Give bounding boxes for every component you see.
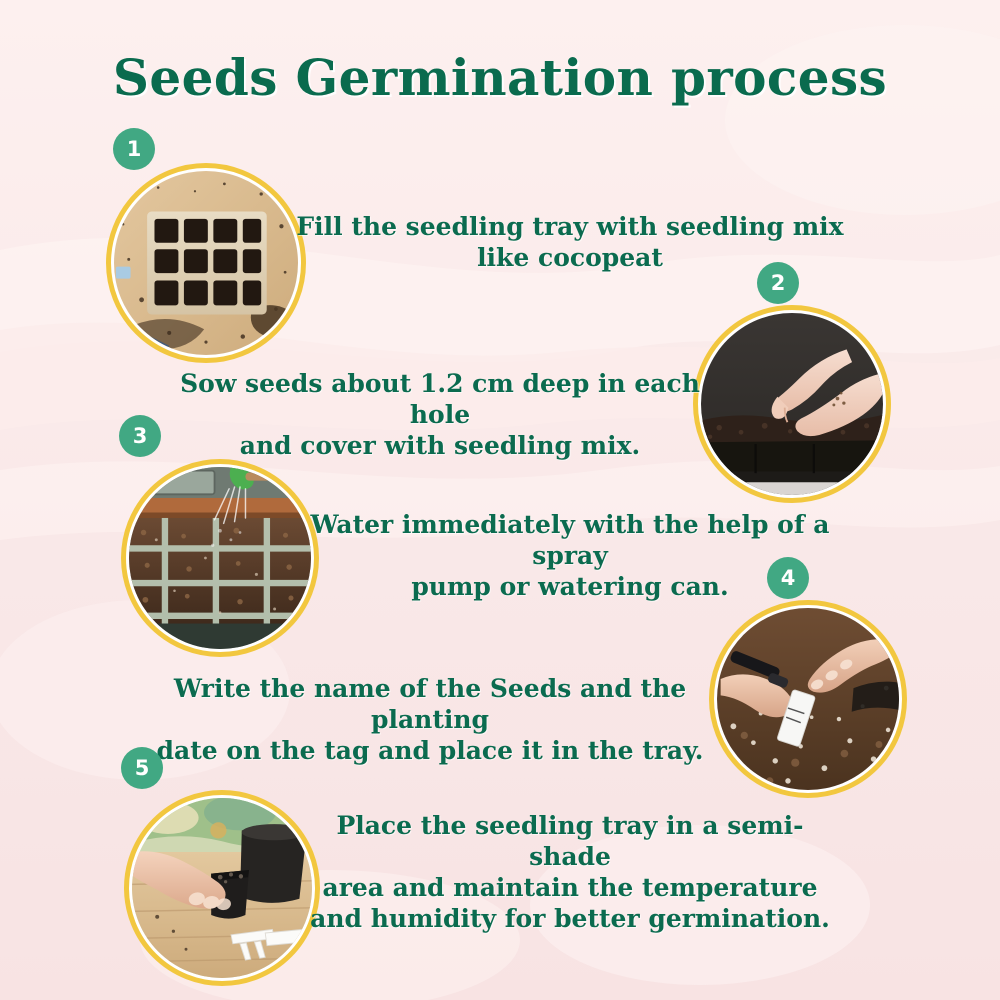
step-photo-5-image bbox=[132, 798, 312, 978]
step-caption-5-line-1: Place the seedling tray in a semi-shade bbox=[300, 810, 840, 872]
step-photo-4 bbox=[709, 600, 907, 798]
step-caption-4: Write the name of the Seeds and the plan… bbox=[145, 673, 715, 766]
step-caption-2-line-2: and cover with seedling mix. bbox=[155, 430, 725, 461]
step-photo-4-image bbox=[717, 608, 899, 790]
page-title: Seeds Germination process bbox=[0, 48, 1000, 107]
step-caption-4-line-1: Write the name of the Seeds and the plan… bbox=[145, 673, 715, 735]
infographic-canvas: Seeds Germination process 1 bbox=[0, 0, 1000, 1000]
step-caption-2: Sow seeds about 1.2 cm deep in each hole… bbox=[155, 368, 725, 461]
step-caption-5-line-2: area and maintain the temperature bbox=[300, 872, 840, 903]
step-caption-5: Place the seedling tray in a semi-shade … bbox=[300, 810, 840, 934]
step-caption-2-line-1: Sow seeds about 1.2 cm deep in each hole bbox=[155, 368, 725, 430]
step-badge-4: 4 bbox=[767, 557, 809, 599]
step-caption-4-line-2: date on the tag and place it in the tray… bbox=[145, 735, 715, 766]
step-badge-5: 5 bbox=[121, 747, 163, 789]
step-badge-3: 3 bbox=[119, 415, 161, 457]
step-photo-1-image bbox=[114, 171, 298, 355]
step-caption-1: Fill the seedling tray with seedling mix… bbox=[290, 211, 850, 273]
step-badge-1: 1 bbox=[113, 128, 155, 170]
step-caption-1-line-1: Fill the seedling tray with seedling mix bbox=[290, 211, 850, 242]
step-photo-1 bbox=[106, 163, 306, 363]
step-badge-2: 2 bbox=[757, 262, 799, 304]
step-caption-5-line-3: and humidity for better germination. bbox=[300, 903, 840, 934]
step-photo-5 bbox=[124, 790, 320, 986]
step-photo-2-image bbox=[701, 313, 883, 495]
